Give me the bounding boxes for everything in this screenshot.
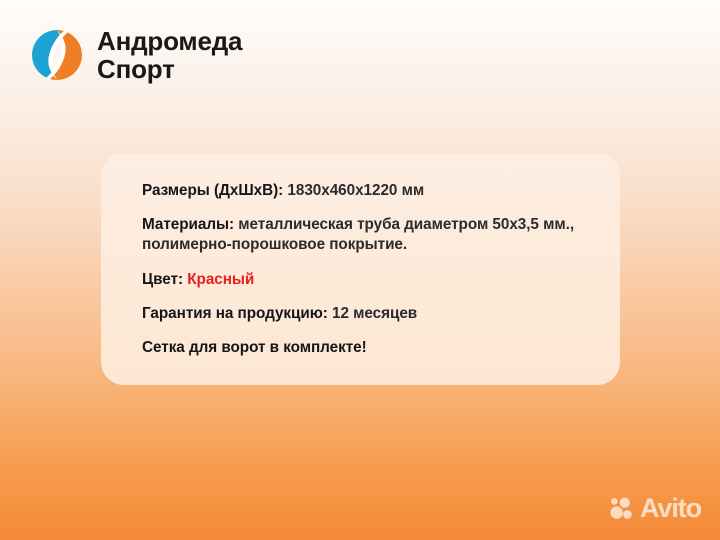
- spec-label-materials: Материалы:: [142, 216, 234, 233]
- brand-name: Андромеда Спорт: [97, 27, 242, 83]
- spec-label-dimensions: Размеры (ДхШхВ):: [142, 182, 283, 199]
- avito-wordmark: Avito: [640, 495, 701, 522]
- avito-dots-logo-icon: [610, 496, 635, 521]
- avito-watermark: Avito: [610, 495, 701, 522]
- spec-label-color: Цвет:: [142, 271, 183, 288]
- spec-row: Сетка для ворот в комплекте!: [142, 338, 586, 358]
- andromeda-swirl-logo-icon: [30, 28, 84, 82]
- spec-label-warranty: Гарантия на продукцию:: [142, 305, 328, 322]
- poster-canvas: Андромеда Спорт Размеры (ДхШхВ): 1830x46…: [0, 0, 720, 540]
- spec-value-color: Красный: [187, 271, 254, 288]
- spec-label-net-included: Сетка для ворот в комплекте!: [142, 339, 367, 356]
- spec-list: Размеры (ДхШхВ): 1830x460x1220 мм Матери…: [142, 181, 586, 358]
- spec-row: Размеры (ДхШхВ): 1830x460x1220 мм: [142, 181, 586, 201]
- spec-row: Материалы: металлическая труба диаметром…: [142, 215, 586, 255]
- brand-lockup: Андромеда Спорт: [30, 27, 242, 83]
- product-spec-card: Размеры (ДхШхВ): 1830x460x1220 мм Матери…: [101, 153, 620, 385]
- spec-value-warranty: 12 месяцев: [332, 305, 417, 322]
- spec-value-dimensions: 1830x460x1220 мм: [287, 182, 424, 199]
- spec-row: Цвет: Красный: [142, 270, 586, 290]
- spec-row: Гарантия на продукцию: 12 месяцев: [142, 304, 586, 324]
